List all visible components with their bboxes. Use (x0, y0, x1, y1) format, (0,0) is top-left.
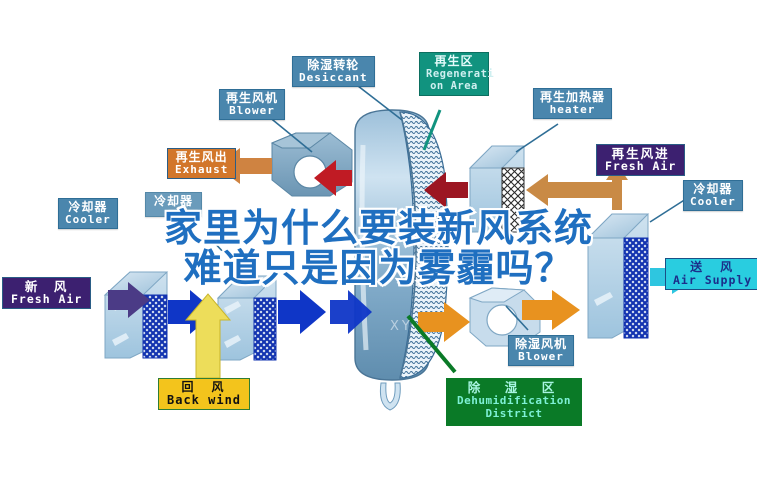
label-exhaust[interactable]: 再生风出 Exhaust (167, 148, 236, 179)
label-cooler-right[interactable]: 冷却器 Cooler (683, 180, 743, 211)
label-cooler-left-secondary[interactable]: 冷却器 (145, 192, 202, 217)
label-regeneration-heater-cn: 再生加热器 (540, 91, 605, 104)
label-dehumidification-district-en-1: Dehumidification (457, 394, 571, 407)
label-back-wind-cn: 回 风 (167, 381, 241, 394)
label-desiccant-wheel-cn: 除湿转轮 (299, 59, 368, 72)
label-cooler-right-en: Cooler (690, 196, 736, 208)
label-regeneration-fresh-air-en: Fresh Air (605, 160, 676, 172)
label-dehumidification-district-en-2: District (457, 407, 571, 420)
label-exhaust-en: Exhaust (175, 164, 228, 176)
cooler-coil-3 (588, 214, 648, 338)
label-back-wind[interactable]: 回 风 Back wind (158, 378, 250, 410)
label-regeneration-area-en-1: Regenerati (426, 68, 482, 80)
label-air-supply[interactable]: 送 风 Air Supply (665, 258, 757, 290)
label-regeneration-blower-cn: 再生风机 (226, 92, 278, 105)
desiccant-rotor (355, 110, 448, 410)
label-dehumidification-district-cn: 除 湿 区 (457, 381, 571, 394)
label-desiccant-wheel-en: Desiccant (299, 72, 368, 84)
label-fresh-air-inlet[interactable]: 新 风 Fresh Air (2, 277, 91, 309)
label-cooler-left-cn: 冷却器 (65, 201, 111, 214)
watermark-text: XY (390, 319, 413, 334)
diagram-canvas: XY 除湿转轮 Desiccant 再生风机 Blower 再生区 Regene… (0, 0, 757, 488)
arrow-regen-in-1 (526, 174, 620, 206)
label-regeneration-heater-en: heater (540, 104, 605, 116)
label-dehumidification-blower[interactable]: 除湿风机 Blower (508, 335, 574, 366)
label-air-supply-en: Air Supply (673, 274, 752, 286)
label-regeneration-fresh-air[interactable]: 再生风进 Fresh Air (596, 144, 685, 176)
label-back-wind-en: Back wind (167, 394, 241, 407)
label-fresh-air-inlet-en: Fresh Air (11, 293, 82, 305)
label-regeneration-blower[interactable]: 再生风机 Blower (219, 89, 285, 120)
label-air-supply-cn: 送 风 (673, 261, 752, 274)
label-regeneration-heater[interactable]: 再生加热器 heater (533, 88, 612, 119)
label-regeneration-area[interactable]: 再生区 Regenerati on Area (419, 52, 489, 96)
label-dehumidification-blower-cn: 除湿风机 (515, 338, 567, 351)
label-cooler-right-cn: 冷却器 (690, 183, 736, 196)
label-cooler-left-en: Cooler (65, 214, 111, 226)
label-exhaust-cn: 再生风出 (175, 151, 228, 164)
dehumidifier-schematic: XY (0, 0, 757, 488)
label-cooler-left-secondary-cn: 冷却器 (154, 195, 193, 208)
label-dehumidification-blower-en: Blower (515, 351, 567, 363)
label-dehumidification-district[interactable]: 除 湿 区 Dehumidification District (446, 378, 582, 426)
cooler-coil-1 (105, 272, 167, 358)
label-desiccant-wheel[interactable]: 除湿转轮 Desiccant (292, 56, 375, 87)
label-cooler-left[interactable]: 冷却器 Cooler (58, 198, 118, 229)
heater-coil (470, 146, 524, 232)
regeneration-blower-body (272, 133, 352, 196)
arrow-cooled-air-2 (278, 290, 326, 334)
label-regeneration-area-en-2: on Area (426, 80, 482, 92)
label-regeneration-blower-en: Blower (226, 105, 278, 117)
label-regeneration-area-cn: 再生区 (426, 55, 482, 68)
